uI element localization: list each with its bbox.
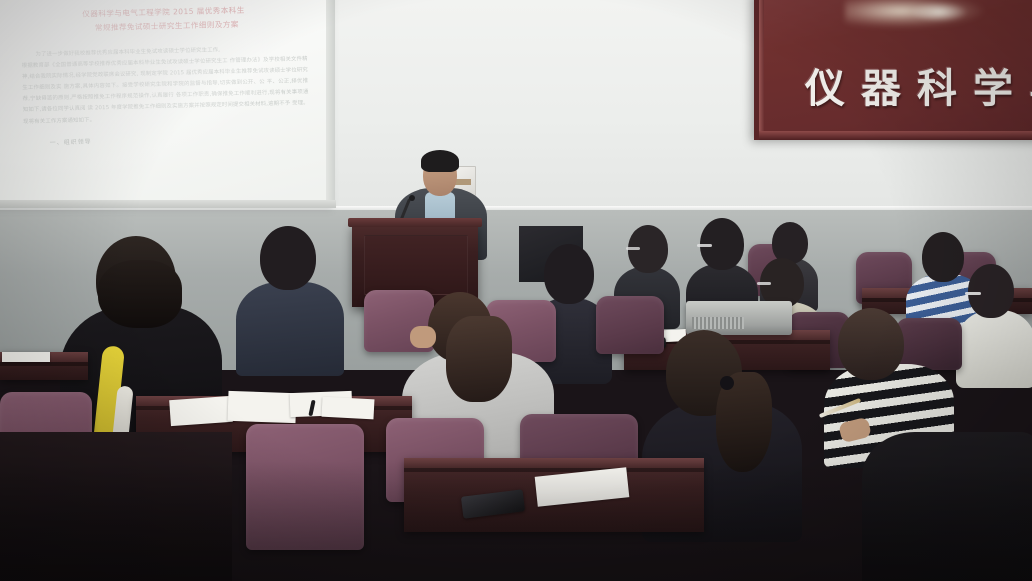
banner-bottom-frame [759, 131, 1032, 140]
paper-stack-1 [169, 396, 233, 426]
seat-front-center [246, 424, 364, 550]
screen-right-edge [326, 0, 335, 208]
microphone-head-icon [409, 195, 415, 201]
podium-front-panel [364, 235, 468, 295]
paper-left-rear [2, 352, 50, 362]
lecture-hall-photo: 仪器科学与电气工程学院 2015 届优秀本科生 常规推荐免试硕士研究生工作细则及… [0, 0, 1032, 581]
long-hair [446, 316, 512, 402]
torso [236, 282, 344, 376]
man-navy-sweater [236, 226, 344, 358]
paper-stack-2 [227, 391, 296, 423]
podium-top-surface [348, 218, 482, 227]
banner-light-highlight [909, 2, 969, 22]
glasses-icon [626, 247, 640, 250]
projector-vent [692, 317, 744, 329]
glasses-icon [965, 292, 981, 295]
torso [862, 432, 1032, 581]
presenter-hair [421, 150, 459, 172]
hair-clip-icon [720, 376, 734, 390]
glasses-icon [697, 244, 712, 247]
glasses-icon [757, 282, 771, 285]
projection-screen: 仪器科学与电气工程学院 2015 届优秀本科生 常规推荐免试硕士研究生工作细则及… [0, 0, 332, 208]
banner-left-frame [759, 0, 764, 140]
foreground-shadow [0, 432, 232, 581]
head [838, 308, 904, 380]
head [968, 264, 1014, 318]
department-nameplate-banner: 仪器科学与 [754, 0, 1032, 140]
banner-text: 仪器科学与 [805, 56, 1032, 114]
hair [98, 260, 182, 328]
woman-white-blouse [956, 264, 1032, 374]
raised-hand [410, 326, 436, 348]
torso [956, 310, 1032, 388]
paper-stack-4 [322, 397, 375, 420]
screen-bottom-edge [0, 200, 336, 208]
head [260, 226, 316, 290]
student-writing [862, 404, 1032, 581]
screen-glare [0, 0, 332, 208]
